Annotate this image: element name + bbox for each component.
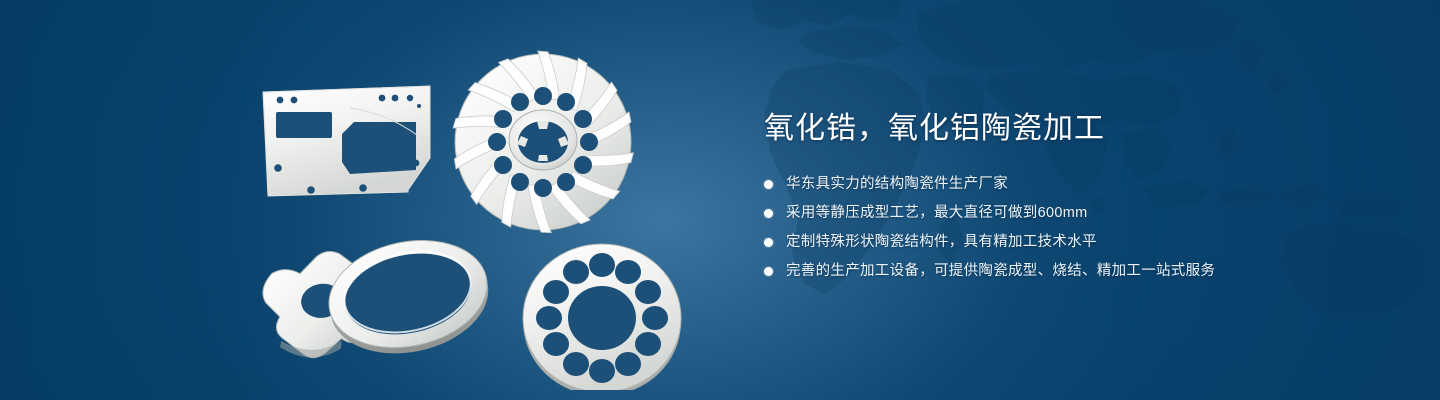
feature-text: 采用等静压成型工艺，最大直径可做到600mm [786,203,1087,223]
banner-copy: 氧化锆，氧化铝陶瓷加工 华东具实力的结构陶瓷件生产厂家 采用等静压成型工艺，最大… [764,110,1404,281]
list-item: 采用等静压成型工艺，最大直径可做到600mm [764,203,1404,223]
bullet-dot-icon [764,267,773,276]
bullet-dot-icon [764,209,773,218]
bullet-dot-icon [764,180,773,189]
feature-list: 华东具实力的结构陶瓷件生产厂家 采用等静压成型工艺，最大直径可做到600mm 定… [764,174,1404,281]
list-item: 定制特殊形状陶瓷结构件，具有精加工技术水平 [764,232,1404,252]
hero-banner: 氧化锆，氧化铝陶瓷加工 华东具实力的结构陶瓷件生产厂家 采用等静压成型工艺，最大… [0,0,1440,400]
feature-text: 华东具实力的结构陶瓷件生产厂家 [786,174,1008,194]
bullet-dot-icon [764,238,773,247]
list-item: 华东具实力的结构陶瓷件生产厂家 [764,174,1404,194]
feature-text: 定制特殊形状陶瓷结构件，具有精加工技术水平 [786,232,1097,252]
feature-text: 完善的生产加工设备，可提供陶瓷成型、烧结、精加工一站式服务 [786,261,1215,281]
banner-headline: 氧化锆，氧化铝陶瓷加工 [764,110,1404,148]
list-item: 完善的生产加工设备，可提供陶瓷成型、烧结、精加工一站式服务 [764,261,1404,281]
